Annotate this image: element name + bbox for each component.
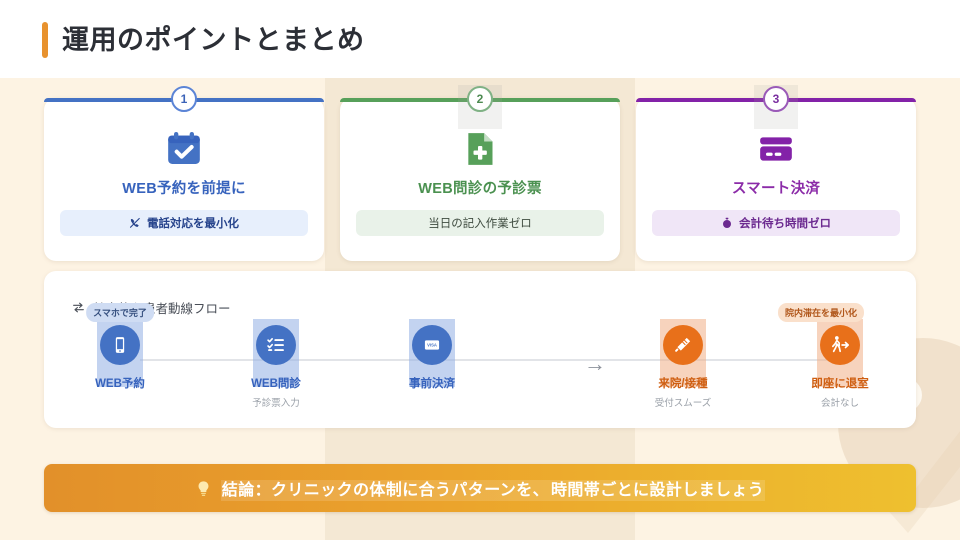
flow-step-3[interactable]: VISA 事前決済 bbox=[401, 325, 463, 391]
calendar-check-icon bbox=[164, 129, 204, 169]
flow-step-icon-circle bbox=[820, 325, 860, 365]
flow-step-sublabel: 受付スムーズ bbox=[655, 395, 712, 409]
file-medical-icon bbox=[460, 129, 500, 169]
flow-step-1[interactable]: スマホで完了 WEB予約 bbox=[89, 325, 151, 391]
card-badge-label: 会計待ち時間ゼロ bbox=[739, 215, 831, 231]
flow-step-label: 即座に退室 bbox=[811, 375, 869, 391]
card-number-badge: 3 bbox=[763, 86, 789, 112]
points-card-row: 1 WEB予約を前提に 電話対応を最小化 2 bbox=[44, 98, 916, 261]
slide-root: 運用のポイントとまとめ 1 WEB予約を前提に 電話対応を最小化 bbox=[0, 0, 960, 540]
card-badge: 電話対応を最小化 bbox=[60, 210, 308, 236]
exchange-arrows-icon bbox=[72, 301, 85, 314]
lightbulb-icon bbox=[195, 479, 212, 498]
visa-card-icon: VISA bbox=[422, 335, 442, 355]
flow-step-5[interactable]: 即座に退室 会計なし bbox=[809, 325, 871, 409]
banner-text-part2: 時間帯ごとに設計しましょう bbox=[550, 480, 765, 501]
phone-slash-icon bbox=[129, 217, 141, 229]
flow-step-label: WEB予約 bbox=[95, 375, 145, 391]
patient-flow-panel: 効率的な患者動線フロー スマホで完了 WEB予約 bbox=[44, 271, 916, 428]
conclusion-banner: 結論：クリニックの体制に合うパターンを、時間帯ごとに設計しましょう bbox=[44, 464, 916, 512]
syringe-icon bbox=[673, 335, 693, 355]
credit-card-icon bbox=[756, 129, 796, 169]
point-card-3[interactable]: 3 スマート決済 会計待ち時間ゼロ bbox=[636, 98, 916, 261]
header: 運用のポイントとまとめ bbox=[0, 0, 960, 78]
checklist-icon bbox=[266, 335, 286, 355]
card-badge-label: 当日の記入作業ゼロ bbox=[428, 215, 532, 231]
flow-step-icon-circle bbox=[663, 325, 703, 365]
conclusion-banner-text: 結論：クリニックの体制に合うパターンを、時間帯ごとに設計しましょう bbox=[221, 476, 765, 500]
flow-arrow-icon: → bbox=[584, 353, 606, 375]
mobile-phone-icon bbox=[110, 335, 130, 355]
card-title: WEB問診の予診票 bbox=[418, 177, 542, 198]
svg-text:VISA: VISA bbox=[427, 342, 437, 347]
flow-step-label: WEB問診 bbox=[251, 375, 301, 391]
banner-text-part1: 結論：クリニックの体制に合うパターンを、 bbox=[221, 480, 550, 501]
card-title: WEB予約を前提に bbox=[122, 177, 246, 198]
page-title: 運用のポイントとまとめ bbox=[62, 22, 365, 58]
title-accent-bar bbox=[42, 22, 48, 58]
card-badge-label: 電話対応を最小化 bbox=[147, 215, 239, 231]
flow-step-2[interactable]: WEB問診 予診票入力 bbox=[245, 325, 307, 409]
flow-step-icon-circle bbox=[100, 325, 140, 365]
flow-step-sublabel: 予診票入力 bbox=[252, 395, 300, 409]
point-card-1[interactable]: 1 WEB予約を前提に 電話対応を最小化 bbox=[44, 98, 324, 261]
flow-step-icon-circle bbox=[256, 325, 296, 365]
card-badge: 当日の記入作業ゼロ bbox=[356, 210, 604, 236]
card-title: スマート決済 bbox=[732, 177, 820, 198]
stopwatch-icon bbox=[721, 217, 733, 229]
point-card-2[interactable]: 2 WEB問診の予診票 当日の記入作業ゼロ bbox=[340, 98, 620, 261]
card-number-badge: 1 bbox=[171, 86, 197, 112]
card-number-badge: 2 bbox=[467, 86, 493, 112]
flow-step-label: 来院/接種 bbox=[658, 375, 707, 391]
flow-step-label: 事前決済 bbox=[409, 375, 455, 391]
person-exit-icon bbox=[830, 335, 850, 355]
flow-step-tooltip: スマホで完了 bbox=[86, 303, 154, 322]
card-badge: 会計待ち時間ゼロ bbox=[652, 210, 900, 236]
flow-step-tooltip: 院内滞在を最小化 bbox=[778, 303, 864, 322]
flow-step-4[interactable]: 院内滞在を最小化 来院/接種 受付スムーズ bbox=[652, 325, 714, 409]
flow-step-icon-circle: VISA bbox=[412, 325, 452, 365]
flow-step-sublabel: 会計なし bbox=[821, 395, 859, 409]
